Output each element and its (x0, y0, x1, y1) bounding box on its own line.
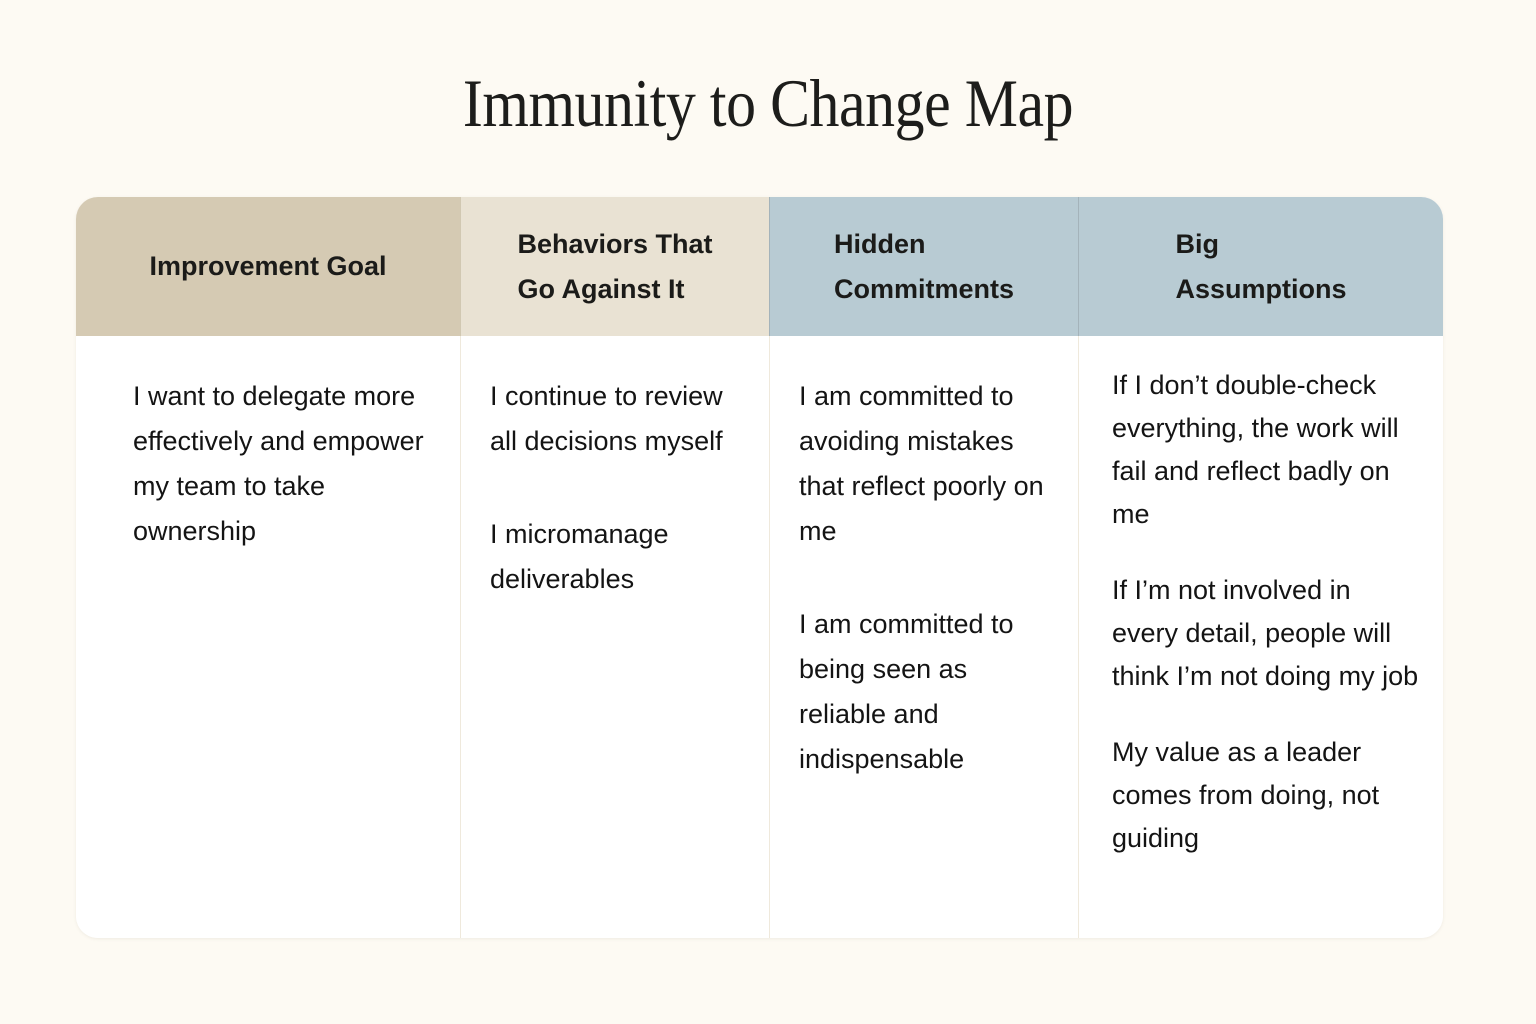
column-header-behaviors-that-go-against-it: Behaviors That Go Against It (460, 197, 769, 336)
entry-item: If I don’t double-check everything, the … (1112, 364, 1419, 536)
entry-item: My value as a leader comes from doing, n… (1112, 731, 1419, 860)
column-body-behaviors-that-go-against-it: I continue to review all decisions mysel… (460, 336, 769, 938)
column-body-hidden-commitments: I am committed to avoiding mistakes that… (769, 336, 1078, 938)
entry-item: I want to delegate more effectively and … (133, 374, 426, 554)
table-body-row: I want to delegate more effectively and … (76, 336, 1443, 938)
column-header-big-assumptions: Big Assumptions (1078, 197, 1443, 336)
entry-item: I micromanage deliverables (490, 512, 745, 602)
table-header-row: Improvement Goal Behaviors That Go Again… (76, 197, 1443, 336)
entry-item: If I’m not involved in every detail, peo… (1112, 569, 1419, 698)
page-title: Immunity to Change Map (92, 62, 1444, 144)
column-body-big-assumptions: If I don’t double-check everything, the … (1078, 336, 1443, 938)
entry-item: I continue to review all decisions mysel… (490, 374, 745, 464)
column-header-label: Big Assumptions (1175, 222, 1346, 312)
page-root: Immunity to Change Map Improvement Goal … (0, 0, 1536, 1024)
immunity-map-table: Improvement Goal Behaviors That Go Again… (76, 197, 1443, 938)
column-body-improvement-goal: I want to delegate more effectively and … (76, 336, 460, 938)
column-header-label: Hidden Commitments (834, 222, 1014, 312)
entry-item: I am committed to avoiding mistakes that… (799, 374, 1056, 554)
column-header-improvement-goal: Improvement Goal (76, 197, 460, 336)
column-header-hidden-commitments: Hidden Commitments (769, 197, 1078, 336)
entry-item: I am committed to being seen as reliable… (799, 602, 1056, 782)
column-header-label: Improvement Goal (149, 244, 386, 289)
column-header-label: Behaviors That Go Against It (517, 222, 712, 312)
